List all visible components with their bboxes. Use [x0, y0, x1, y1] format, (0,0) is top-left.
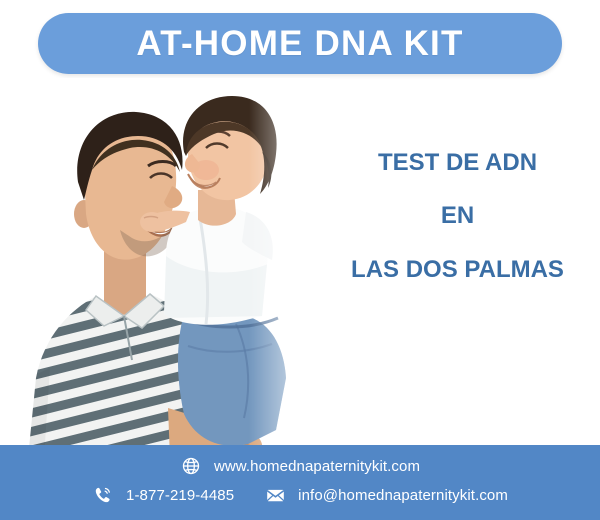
footer-website[interactable]: www.homednapaternitykit.com [180, 455, 420, 477]
headline-line-1: TEST DE ADN [315, 150, 600, 176]
dna-kit-banner: AT-HOME DNA KIT [0, 0, 600, 520]
title-pill: AT-HOME DNA KIT [38, 13, 562, 74]
envelope-icon [264, 484, 286, 506]
footer-email[interactable]: info@homednapaternitykit.com [264, 484, 508, 506]
headline-line-3: LAS DOS PALMAS [315, 257, 600, 283]
family-photo [0, 78, 330, 458]
family-photo-illustration [0, 78, 330, 458]
headline-block: TEST DE ADN EN LAS DOS PALMAS [315, 150, 600, 283]
headline-line-2: EN [315, 203, 600, 229]
email-text: info@homednapaternitykit.com [298, 487, 508, 504]
footer-phone-email-row: 1-877-219-4485 info@homednapaternitykit.… [0, 484, 600, 506]
phone-text: 1-877-219-4485 [126, 487, 234, 504]
phone-icon [92, 484, 114, 506]
footer-contact-bar: www.homednapaternitykit.com 1-877-219-44… [0, 445, 600, 520]
footer-website-row: www.homednapaternitykit.com [0, 455, 600, 477]
footer-phone[interactable]: 1-877-219-4485 [92, 484, 234, 506]
page-title: AT-HOME DNA KIT [136, 26, 463, 61]
website-text: www.homednapaternitykit.com [214, 458, 420, 475]
globe-icon [180, 455, 202, 477]
